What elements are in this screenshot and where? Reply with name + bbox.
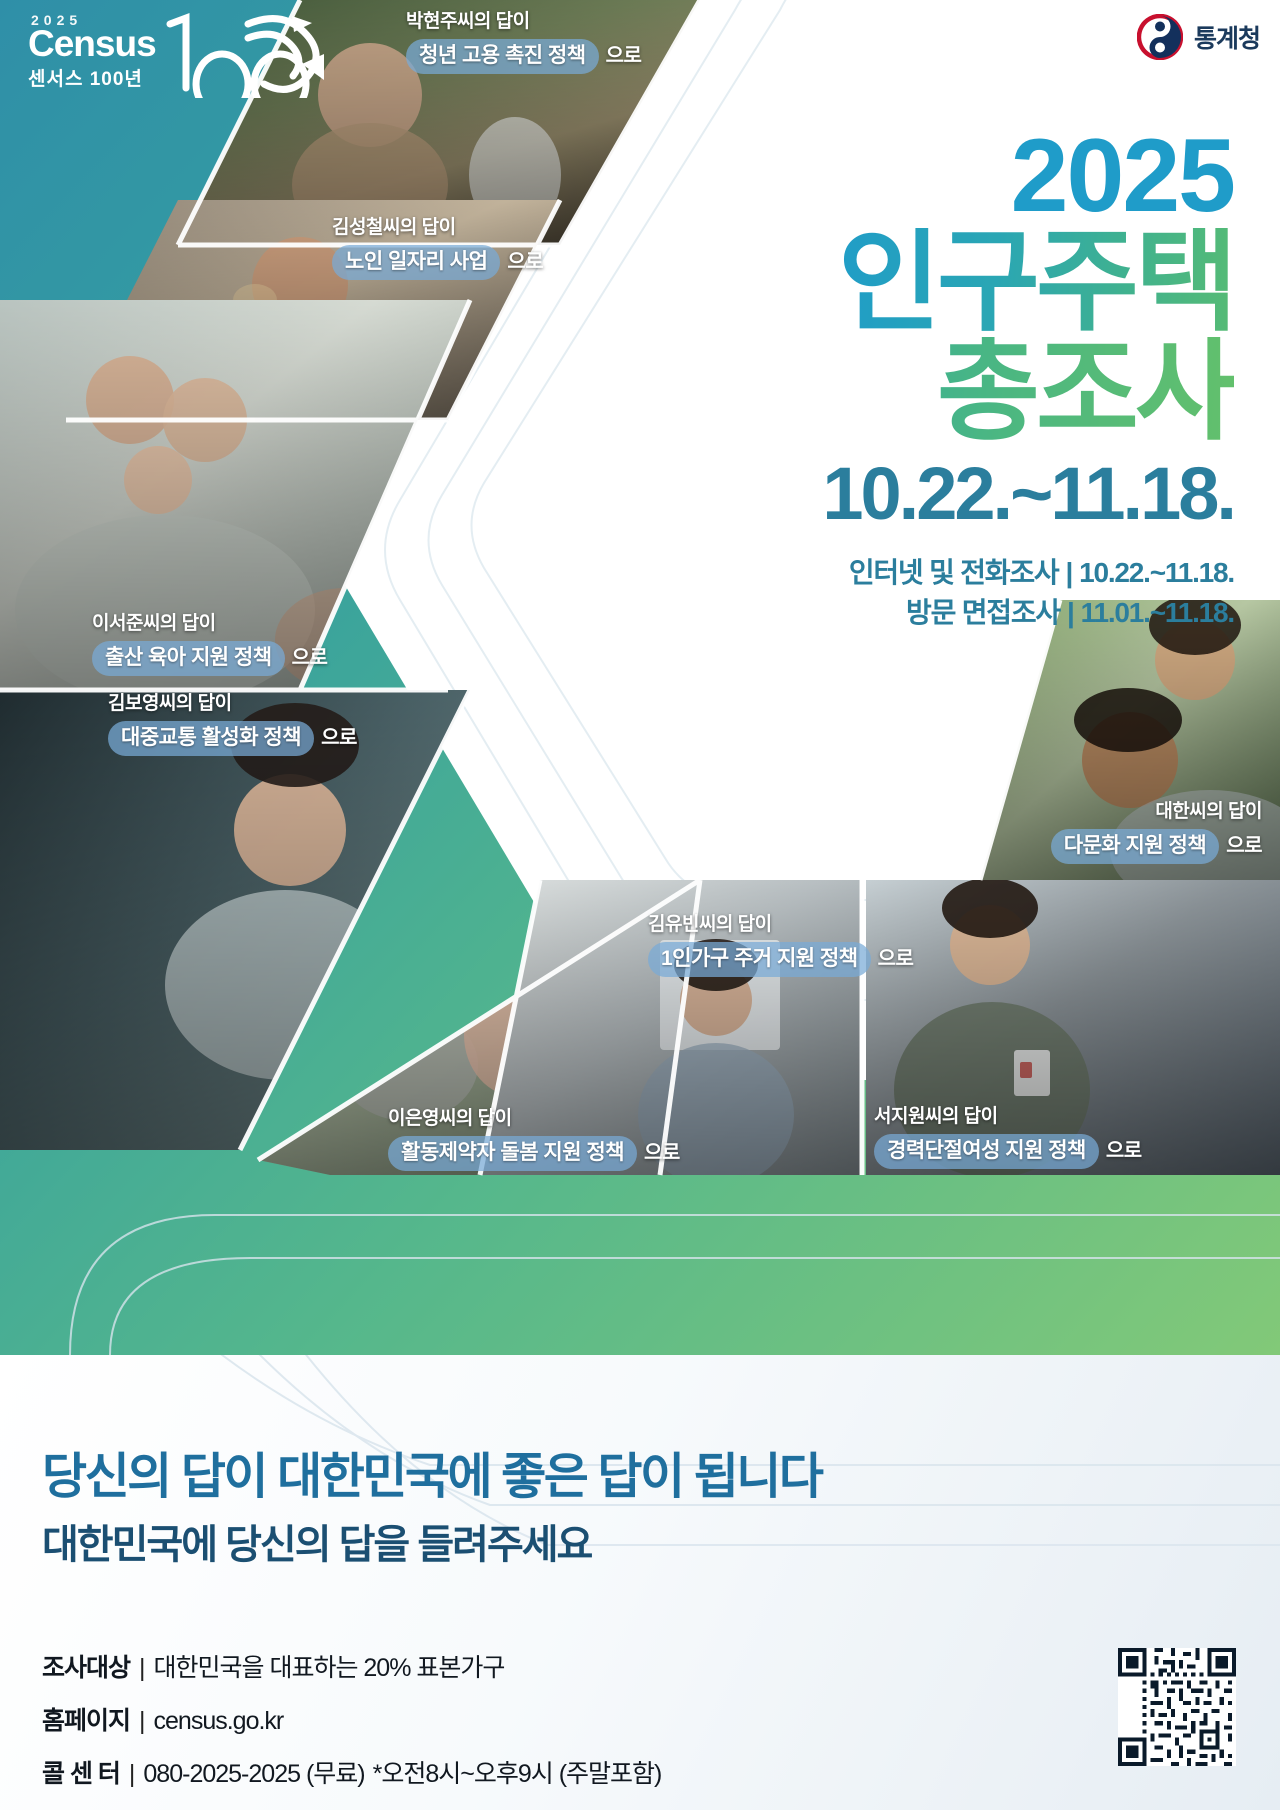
hero-title-line1: 인구주택: [822, 228, 1234, 336]
caption-person: 김유빈씨의 답이: [648, 913, 913, 937]
survey-method-row: 방문 면접조사|11.01.~11.18.: [822, 593, 1234, 633]
contact-row-website: 홈페이지 | census.go.kr: [42, 1701, 661, 1737]
survey-method-sep: |: [1067, 597, 1074, 628]
caption-policy: 출산 육아 지원 정책: [92, 641, 285, 676]
contact-label: 콜 센 터: [42, 1754, 120, 1790]
caption-kim-yubin: 김유빈씨의 답이 1인가구 주거 지원 정책으로: [648, 913, 913, 977]
caption-policy: 경력단절여성 지원 정책: [874, 1134, 1099, 1169]
qr-code-census-site[interactable]: [1118, 1648, 1236, 1766]
census-100-infinity-icon: [152, 8, 342, 98]
hero-block: 2025 인구주택 총조사 10.22.~11.18. 인터넷 및 전화조사|1…: [822, 128, 1234, 632]
survey-method-label: 인터넷 및 전화조사: [849, 557, 1059, 588]
contact-label: 조사대상: [42, 1648, 130, 1684]
contact-label: 홈페이지: [42, 1701, 130, 1737]
caption-suffix: 으로: [1106, 1140, 1142, 1162]
caption-policy: 1인가구 주거 지원 정책: [648, 942, 871, 977]
korea-government-taegeuk-emblem: [1137, 14, 1183, 60]
caption-suffix: 으로: [606, 45, 642, 67]
contact-value: 대한민국을 대표하는 20% 표본가구: [154, 1648, 505, 1684]
census-logo-year: 2025: [31, 12, 156, 28]
caption-policy: 노인 일자리 사업: [332, 245, 500, 280]
gov-agency-label: 통계청: [1194, 19, 1260, 55]
caption-person: 이은영씨의 답이: [388, 1107, 680, 1131]
caption-daehan: 대한씨의 답이 다문화 지원 정책으로: [1051, 800, 1262, 864]
caption-suffix: 으로: [507, 251, 543, 273]
caption-person: 서지원씨의 답이: [874, 1105, 1142, 1129]
contact-separator: |: [139, 1707, 145, 1736]
contact-value: 080-2025-2025 (무료): [143, 1754, 364, 1790]
hero-date-range: 10.22.~11.18.: [822, 457, 1234, 531]
caption-person: 대한씨의 답이: [1051, 800, 1262, 824]
photo-collage: 2025 Census 센서스 100년 통계청: [0, 0, 1280, 1355]
caption-suffix: 으로: [1226, 835, 1262, 857]
caption-policy: 활동제약자 돌봄 지원 정책: [388, 1136, 637, 1171]
caption-park-hyunju: 박현주씨의 답이 청년 고용 촉진 정책으로: [406, 10, 641, 74]
gov-logo: 통계청: [1137, 14, 1260, 60]
caption-lee-seojun: 이서준씨의 답이 출산 육아 지원 정책으로: [92, 612, 327, 676]
contact-note: *오전8시~오후9시 (주말포함): [373, 1754, 662, 1790]
contact-separator: |: [139, 1654, 145, 1683]
caption-kim-boyoung: 김보영씨의 답이 대중교통 활성화 정책으로: [108, 692, 357, 756]
slogan-secondary: 대한민국에 당신의 답을 들려주세요: [42, 1512, 591, 1570]
caption-suffix: 으로: [878, 948, 914, 970]
caption-policy: 대중교통 활성화 정책: [108, 721, 314, 756]
contact-separator: |: [129, 1760, 135, 1789]
caption-suffix: 으로: [321, 727, 357, 749]
survey-method-sep: |: [1065, 557, 1072, 588]
caption-policy: 청년 고용 촉진 정책: [406, 39, 599, 74]
hero-title-line2: 총조사: [822, 337, 1234, 445]
caption-lee-eunyoung: 이은영씨의 답이 활동제약자 돌봄 지원 정책으로: [388, 1107, 680, 1171]
survey-method-period: 10.22.~11.18.: [1079, 557, 1234, 588]
survey-method-period: 11.01.~11.18.: [1081, 597, 1234, 628]
survey-method-label: 방문 면접조사: [906, 597, 1060, 628]
caption-person: 김성철씨의 답이: [332, 216, 543, 240]
slogan-primary: 당신의 답이 대한민국에 좋은 답이 됩니다: [42, 1437, 821, 1508]
census-logo-wordmark: Census: [28, 26, 156, 61]
caption-suffix: 으로: [644, 1142, 680, 1164]
contact-info: 조사대상 | 대한민국을 대표하는 20% 표본가구 홈페이지 | census…: [42, 1648, 661, 1807]
survey-methods: 인터넷 및 전화조사|10.22.~11.18. 방문 면접조사|11.01.~…: [822, 553, 1234, 633]
caption-suffix: 으로: [292, 647, 328, 669]
caption-policy: 다문화 지원 정책: [1051, 829, 1219, 864]
census-poster: 2025 Census 센서스 100년 통계청: [0, 0, 1280, 1810]
contact-value[interactable]: census.go.kr: [154, 1707, 284, 1736]
caption-seo-jiwon: 서지원씨의 답이 경력단절여성 지원 정책으로: [874, 1105, 1142, 1169]
census-logo-korean: 센서스 100년: [28, 64, 156, 91]
caption-kim-sungchul: 김성철씨의 답이 노인 일자리 사업으로: [332, 216, 543, 280]
caption-person: 박현주씨의 답이: [406, 10, 641, 34]
contact-row-callcenter: 콜 센 터 | 080-2025-2025 (무료) *오전8시~오후9시 (주…: [42, 1754, 661, 1790]
survey-method-row: 인터넷 및 전화조사|10.22.~11.18.: [822, 553, 1234, 593]
caption-person: 김보영씨의 답이: [108, 692, 357, 716]
caption-person: 이서준씨의 답이: [92, 612, 327, 636]
census-100-logo: 2025 Census 센서스 100년: [28, 12, 156, 91]
hero-year: 2025: [822, 128, 1234, 226]
contact-row-target: 조사대상 | 대한민국을 대표하는 20% 표본가구: [42, 1648, 661, 1684]
